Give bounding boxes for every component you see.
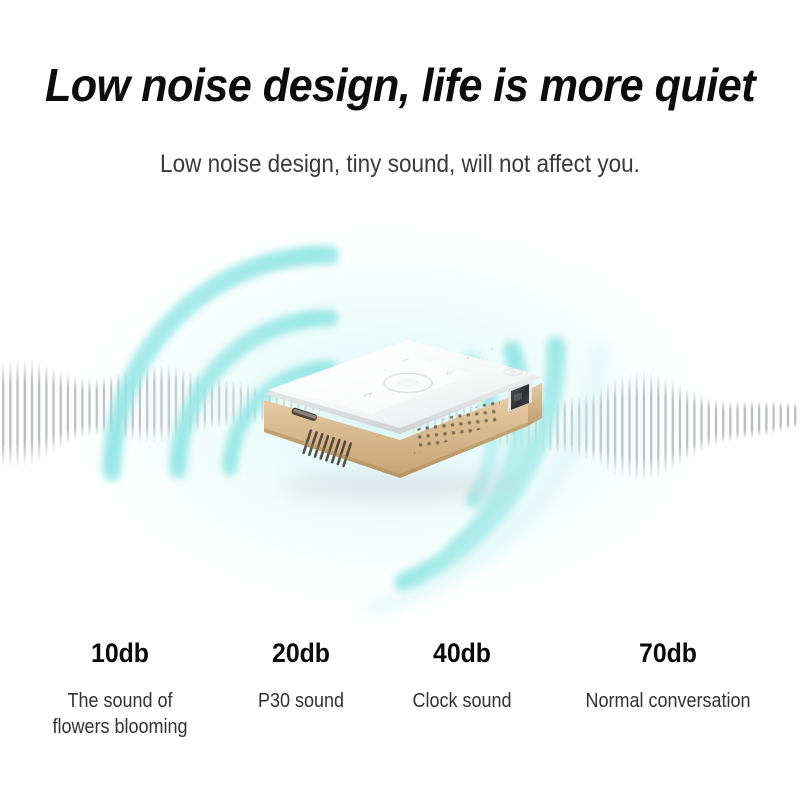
page-title: Low noise design, life is more quiet [24,58,776,112]
stat-caption: P30 sound [217,688,384,714]
projector-illustration [232,328,572,508]
stat-item: 20db P30 sound [208,636,394,714]
stat-value: 10db [28,636,212,670]
stat-caption: Clock sound [381,688,543,714]
promo-page: Low noise design, life is more quiet Low… [0,0,800,800]
page-subtitle: Low noise design, tiny sound, will not a… [40,148,760,180]
decibel-comparison-row: 10db The sound of flowers blooming 20db … [0,636,800,766]
stat-item: 70db Normal conversation [540,636,796,714]
stat-value: 70db [550,636,786,670]
stat-caption: The sound of flowers blooming [30,688,210,740]
stat-caption-line: The sound of [30,688,210,714]
stat-caption: Normal conversation [553,688,783,714]
stat-item: 40db Clock sound [372,636,552,714]
stat-value: 40db [379,636,545,670]
mini-projector [232,328,552,488]
stat-value: 20db [215,636,386,670]
stat-caption-line: flowers blooming [30,714,210,740]
hero-illustration [0,200,800,620]
stat-item: 10db The sound of flowers blooming [20,636,220,740]
